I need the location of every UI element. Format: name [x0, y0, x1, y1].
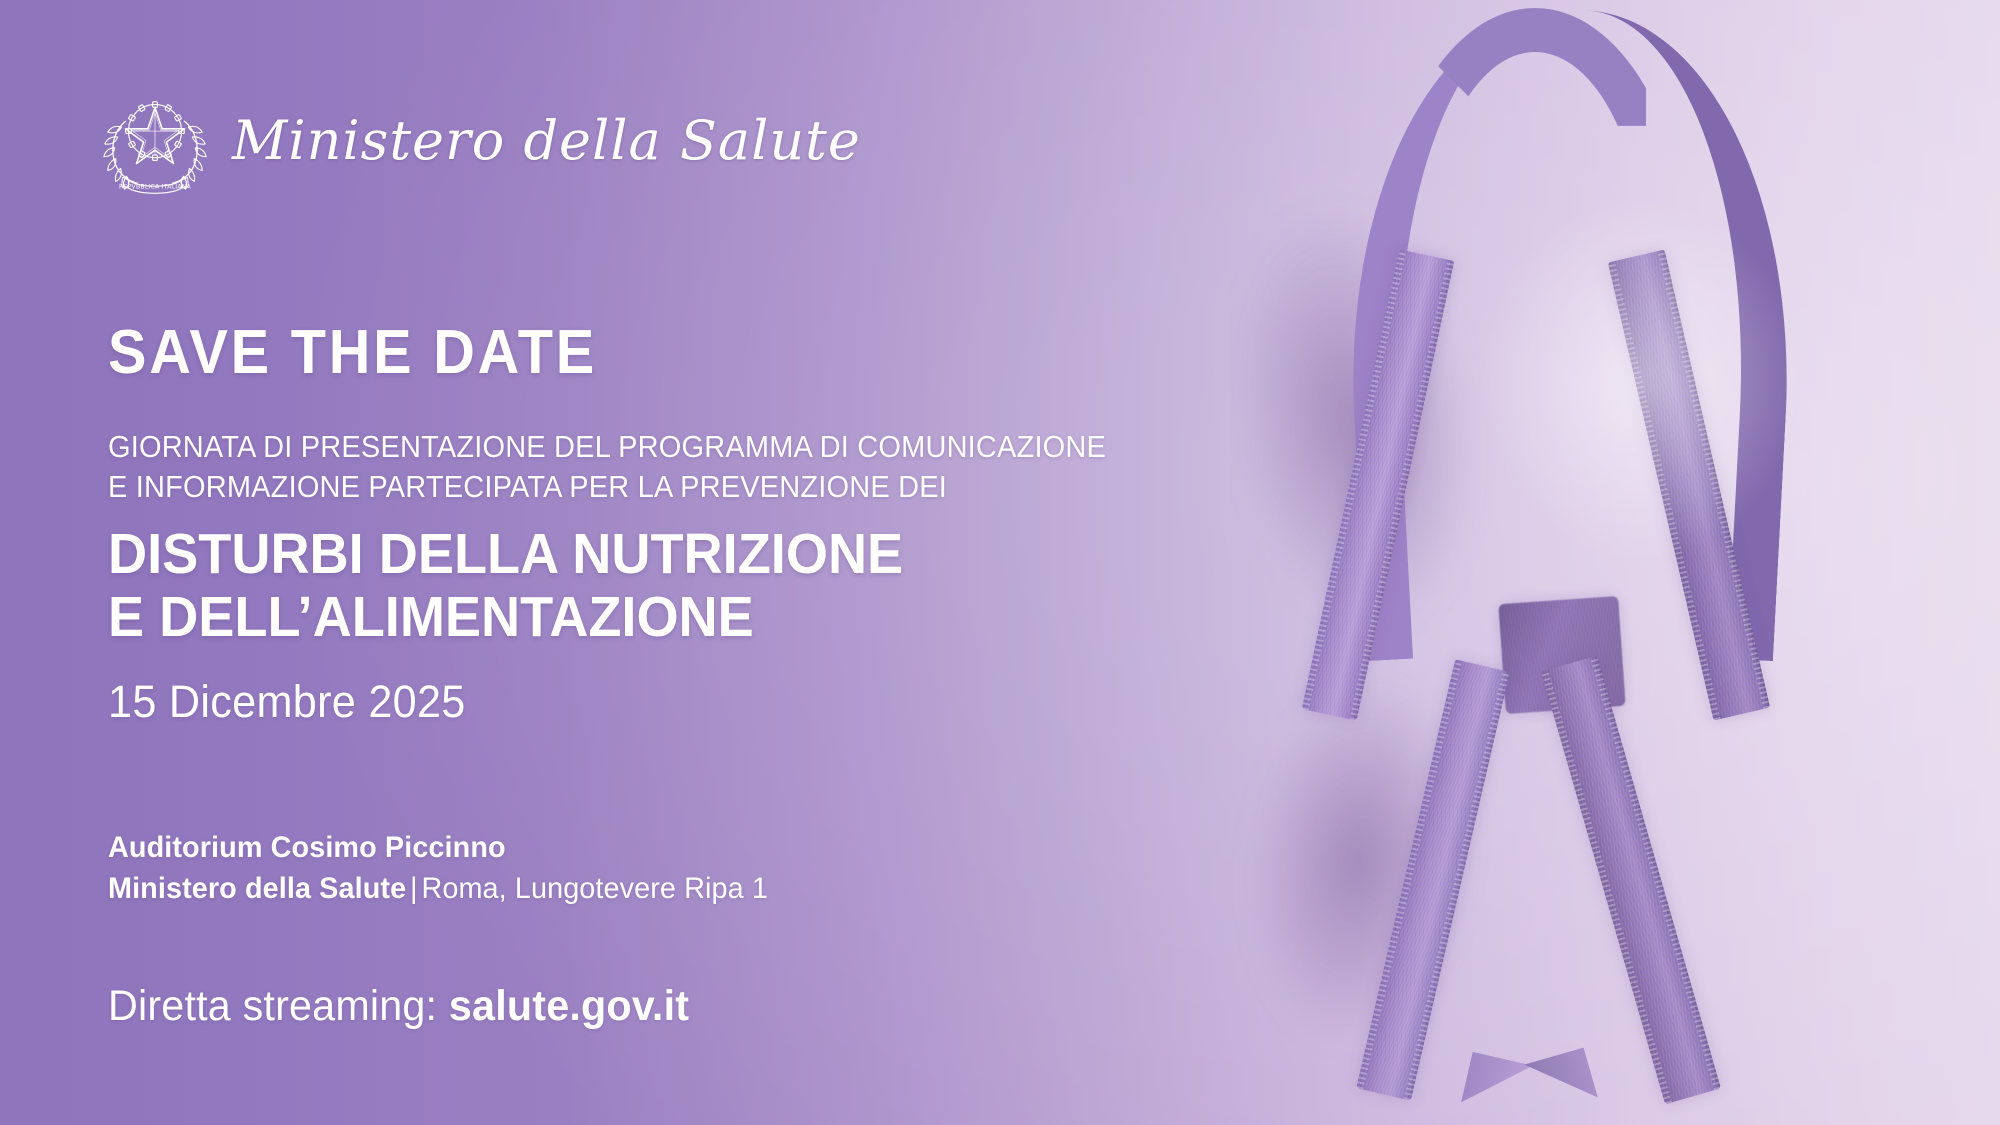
event-description-line-1: GIORNATA DI PRESENTAZIONE DEL PROGRAMMA … [108, 428, 1172, 468]
streaming-block: Diretta streaming: salute.gov.it [108, 985, 689, 1028]
ribbon-tail-right [1541, 656, 1721, 1105]
venue-institution: Ministero della Salute [108, 872, 406, 905]
event-topic-title: DISTURBI DELLA NUTRIZIONE E DELL’ALIMENT… [108, 523, 1172, 648]
venue-address-line: Ministero della Salute|Roma, Lungotevere… [108, 869, 768, 910]
ministry-wordmark: Ministero della Salute [232, 114, 861, 168]
event-topic-line-1: DISTURBI DELLA NUTRIZIONE [108, 523, 1172, 586]
streaming-label: Diretta streaming: [108, 982, 437, 1030]
event-topic-line-2: E DELL’ALIMENTAZIONE [108, 586, 1172, 649]
venue-separator: | [406, 872, 421, 905]
ministry-lockup: REPVBBLICA ITALIANA Ministero della Salu… [96, 78, 861, 196]
ribbon-satin-texture [1541, 656, 1721, 1105]
streaming-url[interactable]: salute.gov.it [449, 982, 689, 1030]
venue-block: Auditorium Cosimo Piccinno Ministero del… [108, 828, 768, 910]
venue-hall: Auditorium Cosimo Piccinno [108, 828, 768, 869]
ribbon-tip-right [1524, 1047, 1598, 1114]
event-description: GIORNATA DI PRESENTAZIONE DEL PROGRAMMA … [108, 428, 1172, 507]
italian-republic-emblem-icon: REPVBBLICA ITALIANA [96, 78, 214, 196]
save-the-date-heading: SAVE THE DATE [108, 322, 1150, 384]
purple-awareness-ribbon [1230, 0, 2000, 1125]
venue-address: Roma, Lungotevere Ripa 1 [421, 872, 768, 905]
save-the-date-poster: REPVBBLICA ITALIANA Ministero della Salu… [0, 0, 2000, 1125]
event-date: 15 Dicembre 2025 [108, 679, 1183, 724]
event-description-line-2: E INFORMAZIONE PARTECIPATA PER LA PREVEN… [108, 468, 1172, 508]
svg-text:REPVBBLICA ITALIANA: REPVBBLICA ITALIANA [119, 184, 191, 191]
poster-content: SAVE THE DATE GIORNATA DI PRESENTAZIONE … [108, 322, 1228, 724]
